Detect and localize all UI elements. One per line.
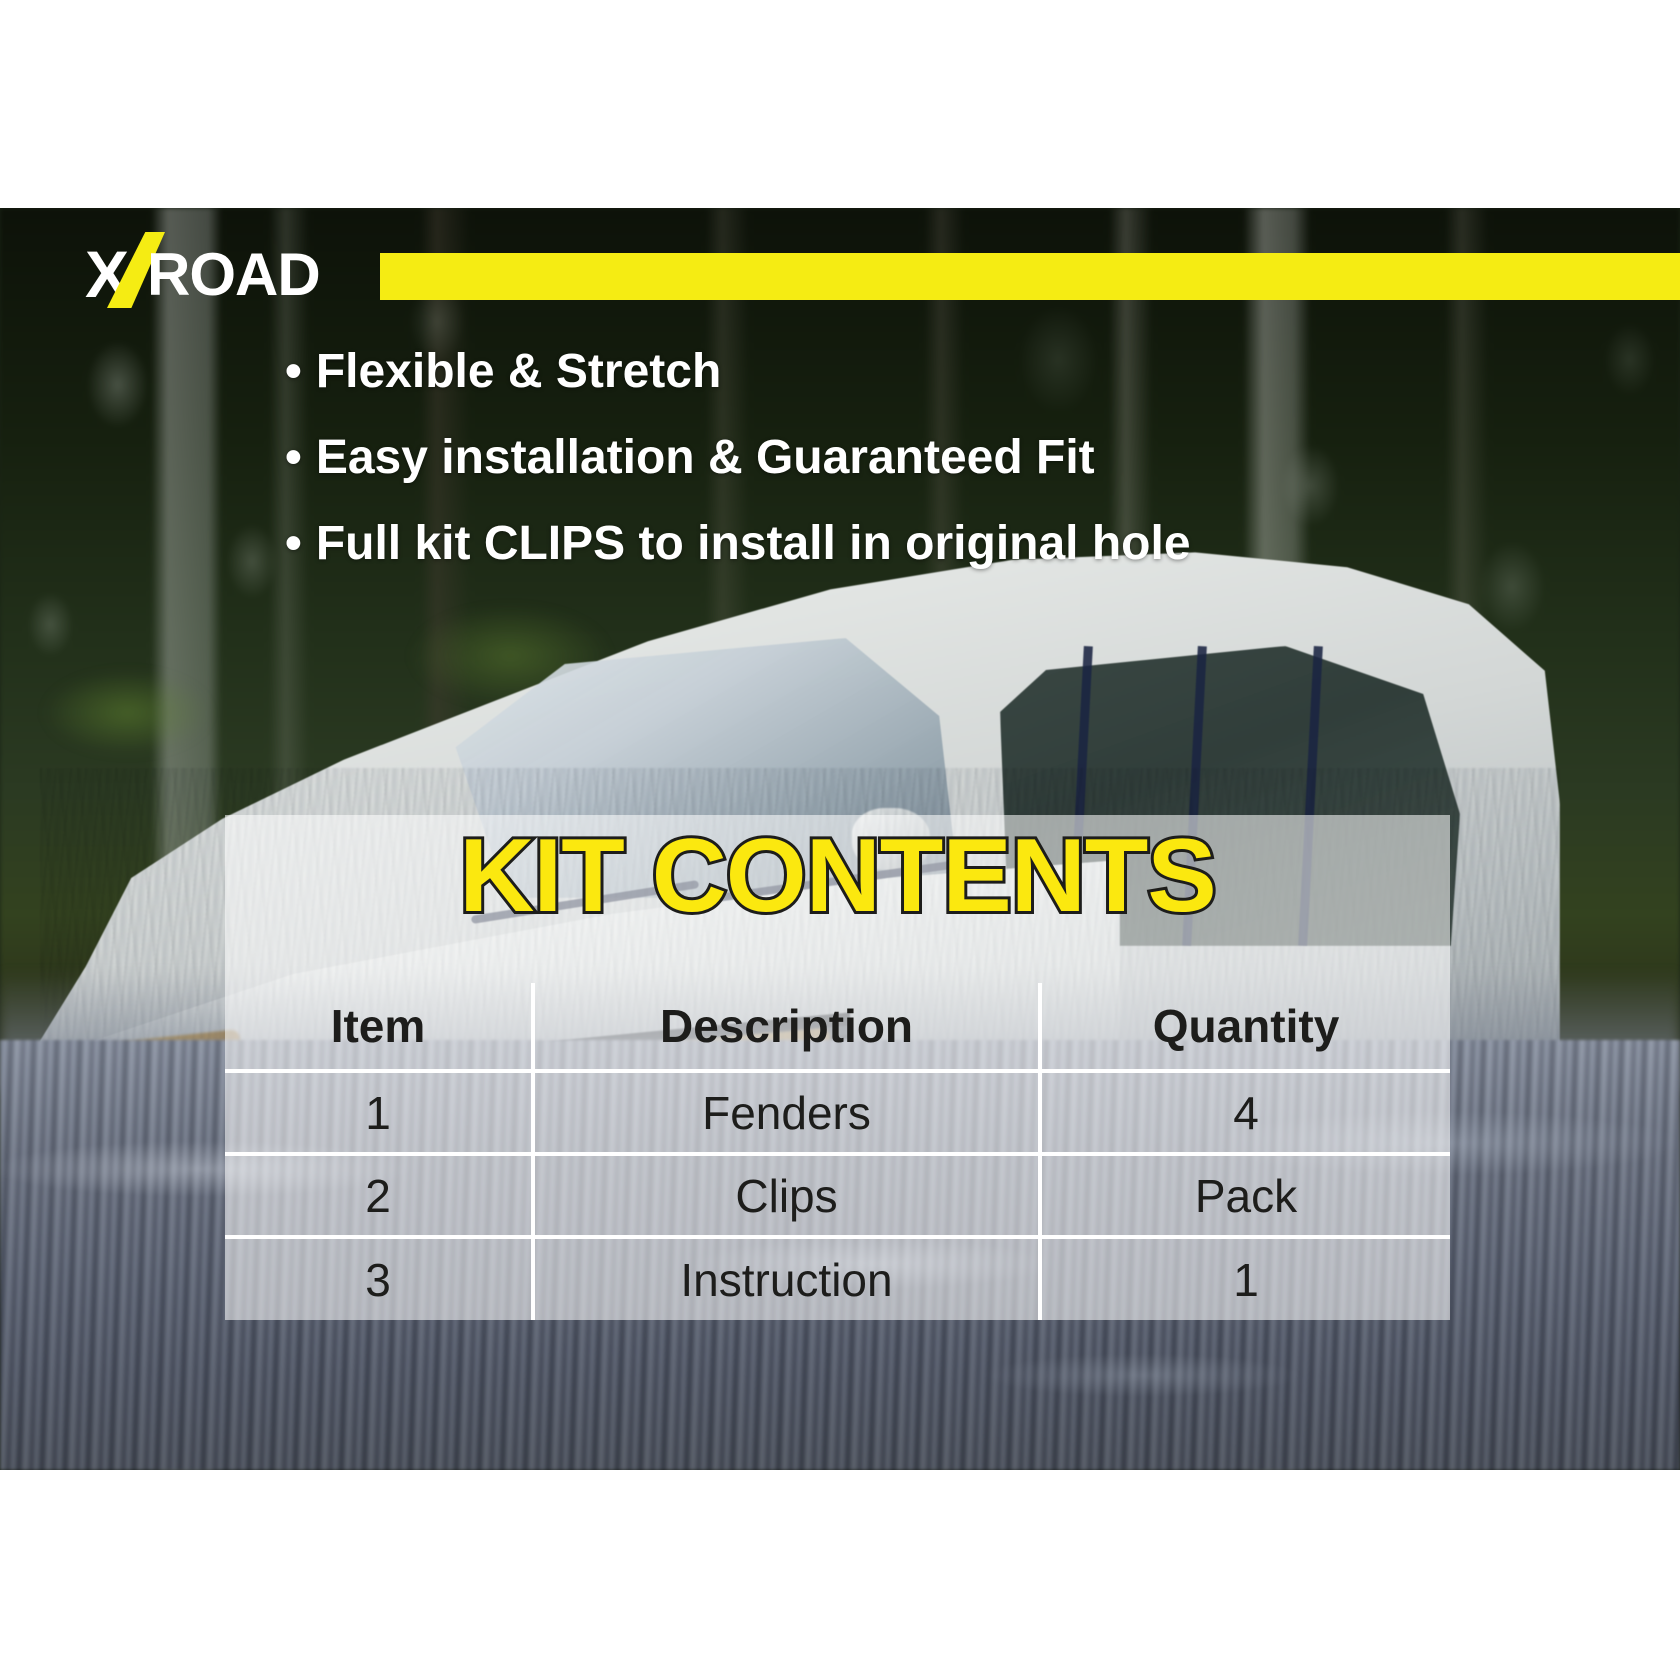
bullet-dot-icon: • <box>285 431 302 484</box>
bullet-dot-icon: • <box>285 517 302 570</box>
cell-description: Fenders <box>533 1071 1040 1154</box>
cell-item: 2 <box>225 1154 533 1237</box>
logo-road-text: ROAD <box>147 244 320 306</box>
cell-quantity: Pack <box>1040 1154 1450 1237</box>
column-header-item: Item <box>225 983 533 1071</box>
kit-contents-title: KIT CONTENTS <box>225 823 1450 929</box>
cell-quantity: 4 <box>1040 1071 1450 1154</box>
column-header-quantity: Quantity <box>1040 983 1450 1071</box>
cell-item: 3 <box>225 1237 533 1320</box>
feature-label: Flexible & Stretch <box>316 345 721 398</box>
kit-contents-panel: KIT CONTENTS Item Description Quantity 1… <box>225 815 1450 1320</box>
header: X ROAD <box>0 232 1680 306</box>
table-row: 3 Instruction 1 <box>225 1237 1450 1320</box>
bullet-dot-icon: • <box>285 345 302 398</box>
feature-item: •Flexible & Stretch <box>285 348 1385 396</box>
cell-item: 1 <box>225 1071 533 1154</box>
cell-description: Instruction <box>533 1237 1040 1320</box>
product-infographic: X ROAD •Flexible & Stretch •Easy install… <box>0 0 1680 1680</box>
feature-item: •Full kit CLIPS to install in original h… <box>285 520 1385 568</box>
table-header-row: Item Description Quantity <box>225 983 1450 1071</box>
feature-label: Full kit CLIPS to install in original ho… <box>316 517 1191 570</box>
table-row: 2 Clips Pack <box>225 1154 1450 1237</box>
feature-list: •Flexible & Stretch •Easy installation &… <box>285 348 1385 606</box>
feature-item: •Easy installation & Guaranteed Fit <box>285 434 1385 482</box>
cell-description: Clips <box>533 1154 1040 1237</box>
column-header-description: Description <box>533 983 1040 1071</box>
cell-quantity: 1 <box>1040 1237 1450 1320</box>
header-accent-bar <box>380 253 1680 300</box>
kit-contents-table: Item Description Quantity 1 Fenders 4 2 … <box>225 983 1450 1320</box>
table-row: 1 Fenders 4 <box>225 1071 1450 1154</box>
feature-label: Easy installation & Guaranteed Fit <box>316 431 1095 484</box>
xroad-logo: X ROAD <box>85 234 365 306</box>
